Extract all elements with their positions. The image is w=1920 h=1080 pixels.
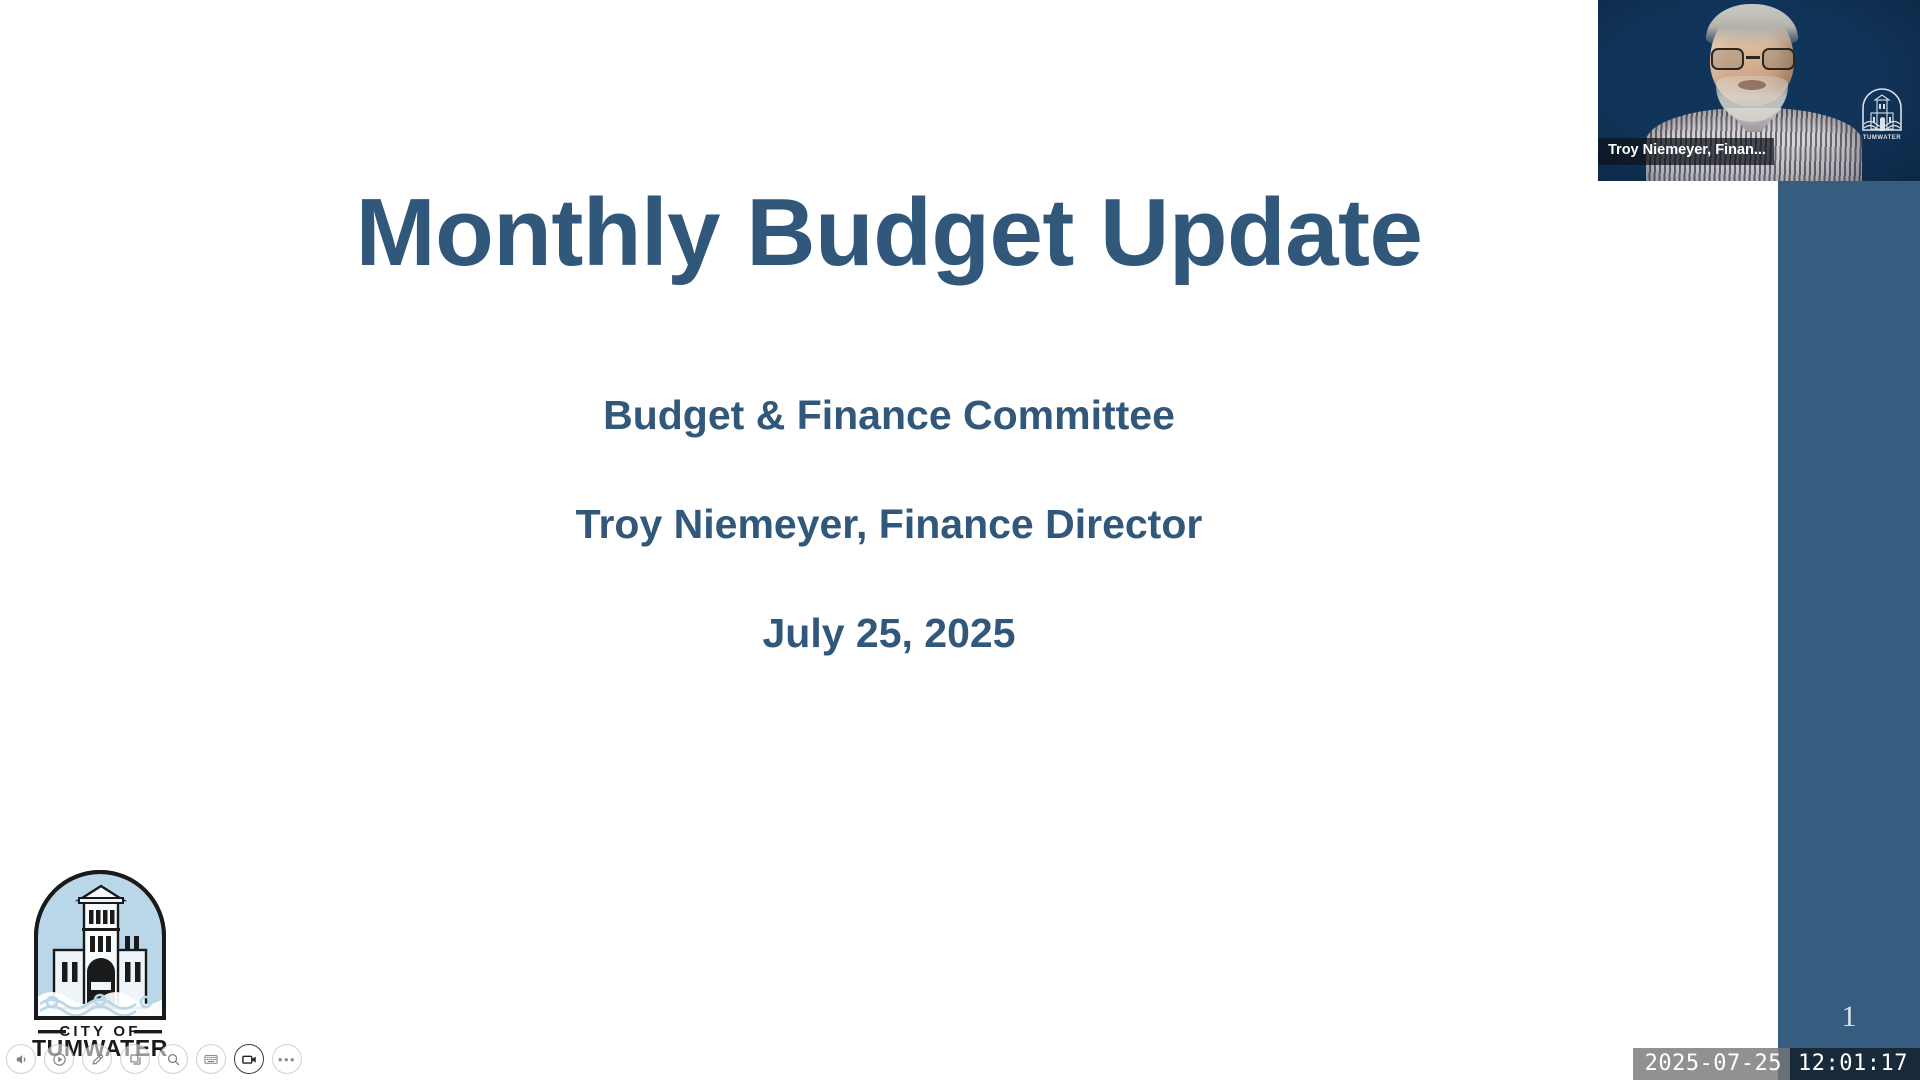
volume-icon[interactable] (6, 1044, 36, 1074)
subtitle-date: July 25, 2025 (0, 613, 1778, 654)
more-dots: ••• (278, 1053, 296, 1066)
participant-video-tile[interactable]: TUMWATER Troy Niemeyer, Finan... (1598, 0, 1920, 181)
subtitle-committee: Budget & Finance Committee (0, 395, 1778, 436)
keyboard-icon[interactable] (196, 1044, 226, 1074)
participant-name-label: Troy Niemeyer, Finan... (1598, 138, 1774, 165)
svg-text:TUMWATER: TUMWATER (1863, 135, 1901, 141)
play-icon[interactable] (44, 1044, 74, 1074)
camera-icon[interactable] (234, 1044, 264, 1074)
page-number: 1 (1778, 1000, 1920, 1034)
stamp-icon[interactable] (120, 1044, 150, 1074)
more-icon[interactable]: ••• (272, 1044, 302, 1074)
city-of-tumwater-logo: CITY OF TUMWATER (26, 858, 174, 1058)
search-icon[interactable] (158, 1044, 188, 1074)
pen-icon[interactable] (82, 1044, 112, 1074)
timestamp-time: 12:01:17 (1790, 1048, 1920, 1080)
slide-title: Monthly Budget Update (0, 185, 1778, 281)
presentation-screen: Monthly Budget Update Budget & Finance C… (0, 0, 1920, 1080)
tumwater-watermark-icon: TUMWATER (1858, 86, 1906, 142)
subtitle-presenter: Troy Niemeyer, Finance Director (0, 504, 1778, 545)
timestamp-date: 2025-07-25 (1633, 1048, 1790, 1080)
slide-subtitle-block: Budget & Finance Committee Troy Niemeyer… (0, 395, 1778, 654)
slide-canvas: Monthly Budget Update Budget & Finance C… (0, 0, 1778, 1080)
timestamp-overlay: 2025-07-25 12:01:17 (1633, 1047, 1920, 1080)
player-toolbar: ••• (6, 1044, 302, 1074)
